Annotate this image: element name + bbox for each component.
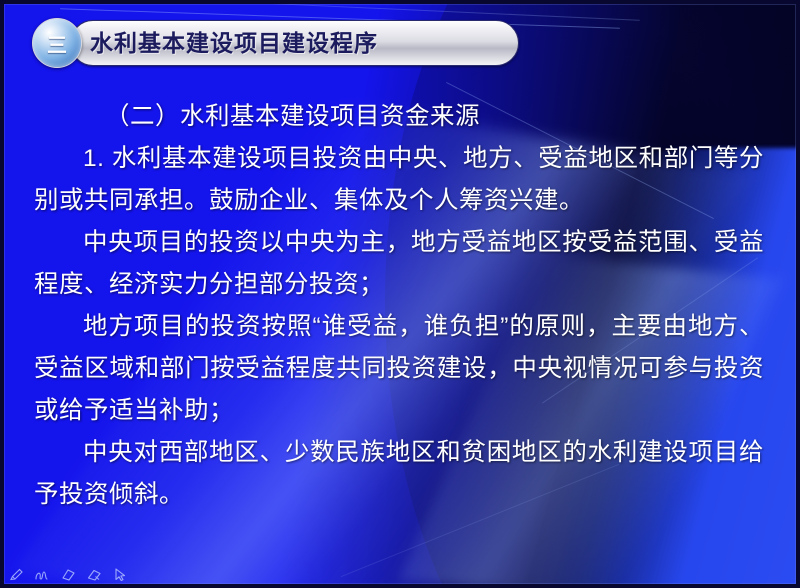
ink-annotation-toolbar[interactable] [8, 567, 129, 582]
body-paragraph-3: 地方项目的投资按照“谁受益，谁负担”的原则，主要由地方、受益区域和部门按受益程度… [34, 306, 764, 432]
presentation-slide: 三 水利基本建设项目建设程序 （二）水利基本建设项目资金来源 1. 水利基本建设… [0, 0, 800, 588]
slide-body: （二）水利基本建设项目资金来源 1. 水利基本建设项目投资由中央、地方、受益地区… [34, 96, 764, 516]
highlighter-icon[interactable] [60, 567, 77, 582]
scribble-icon[interactable] [34, 567, 51, 582]
body-paragraph-4: 中央对西部地区、少数民族地区和贫困地区的水利建设项目给予投资倾斜。 [34, 432, 764, 516]
body-paragraph-2: 中央项目的投资以中央为主，地方受益地区按受益范围、受益程度、经济实力分担部分投资… [34, 222, 764, 306]
pointer-icon[interactable] [112, 567, 129, 582]
body-paragraph-1: 1. 水利基本建设项目投资由中央、地方、受益地区和部门等分别或共同承担。鼓励企业… [34, 138, 764, 222]
pen-icon[interactable] [8, 567, 25, 582]
section-heading: （二）水利基本建设项目资金来源 [34, 96, 764, 138]
slide-title-bar: 三 水利基本建设项目建设程序 [32, 18, 519, 68]
section-number-badge: 三 [32, 18, 82, 68]
eraser-icon[interactable] [86, 567, 103, 582]
slide-title: 水利基本建设项目建设程序 [90, 18, 378, 68]
